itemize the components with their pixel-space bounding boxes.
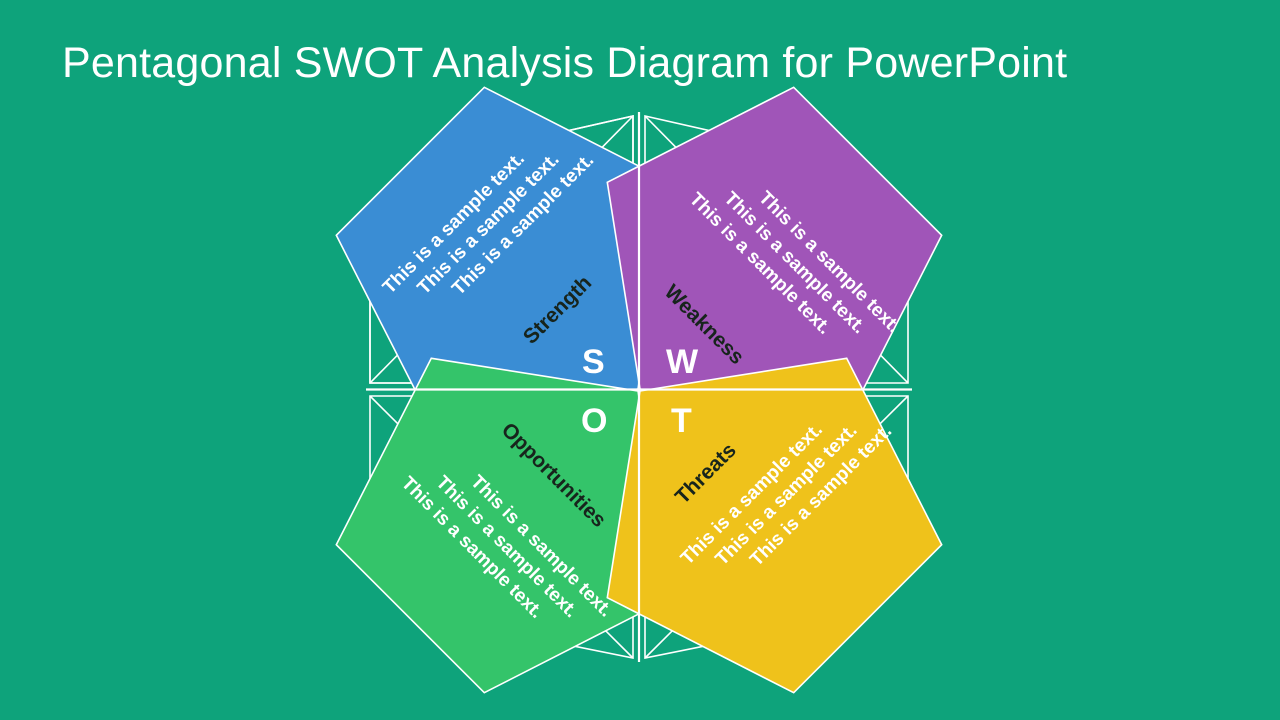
slide-canvas: Pentagonal SWOT Analysis Diagram for Pow… <box>0 0 1280 720</box>
swot-diagram-shapes <box>0 0 1280 720</box>
center-letter-o: O <box>581 404 607 438</box>
swot-diagram: S W O T Strength Weakness Opportunities … <box>0 0 1280 720</box>
center-letter-w: W <box>666 345 698 379</box>
center-letter-s: S <box>582 345 605 379</box>
center-letter-t: T <box>671 404 692 438</box>
